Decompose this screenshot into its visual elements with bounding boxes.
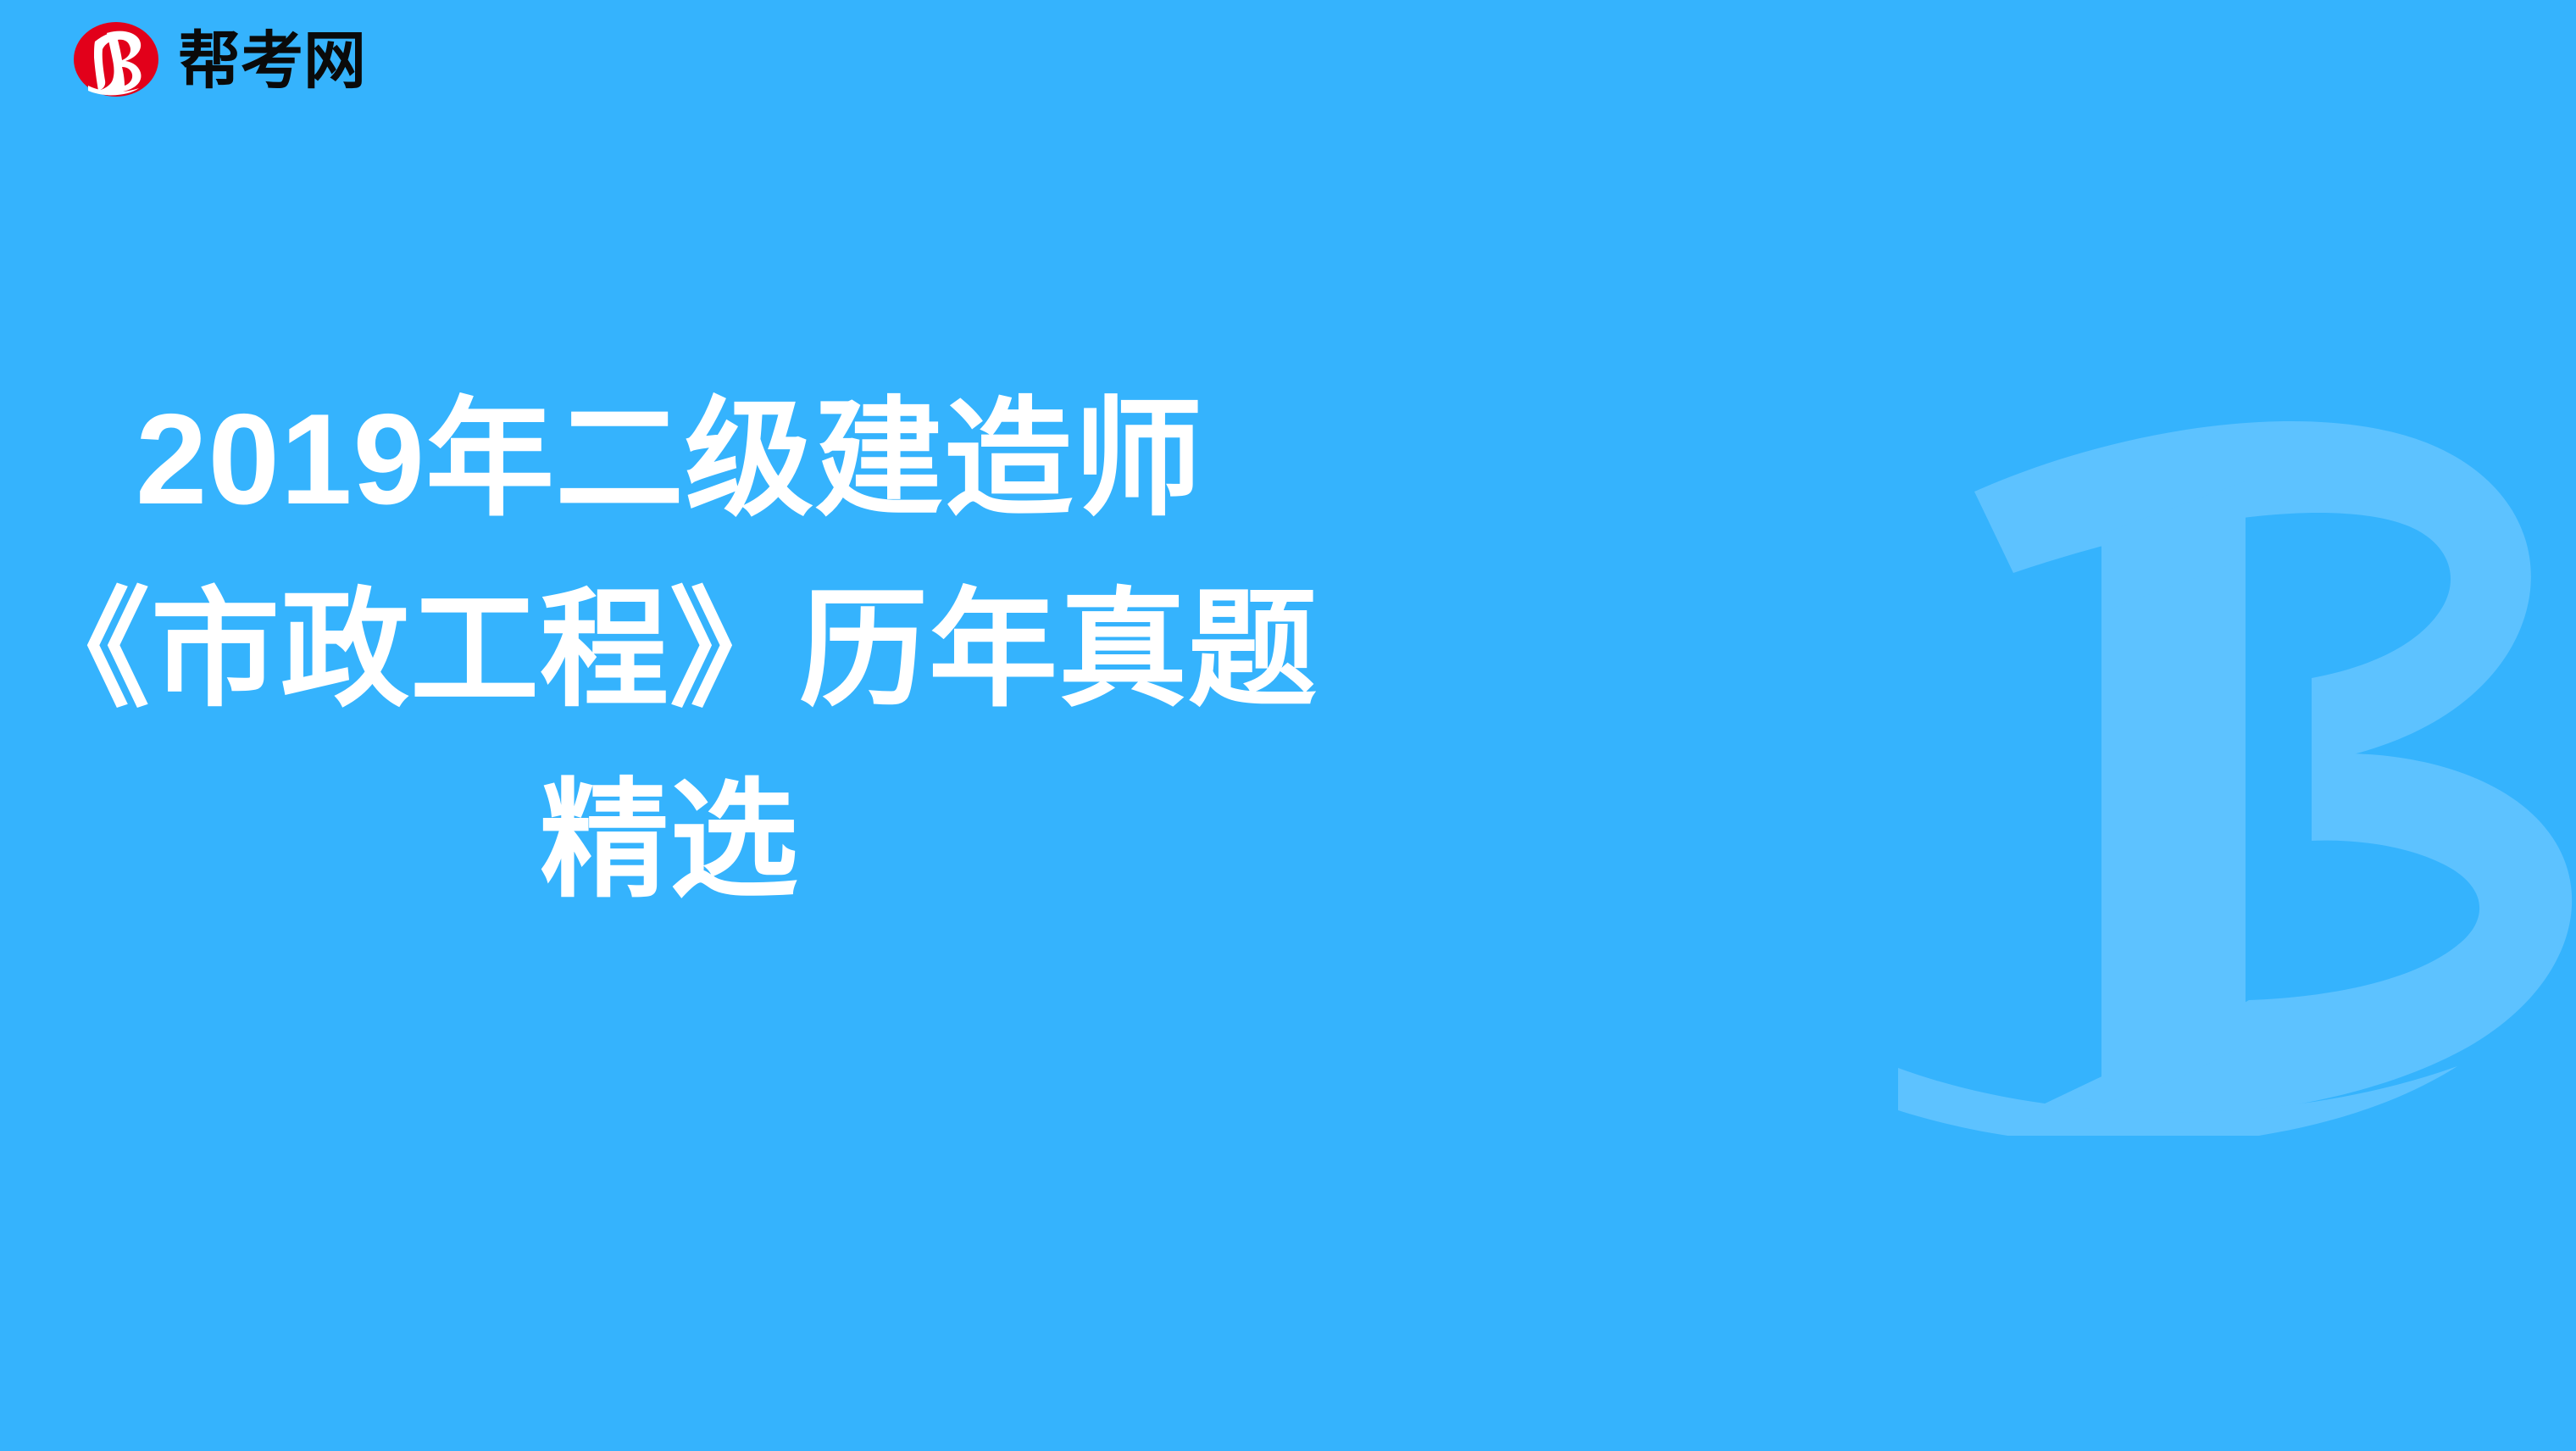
title-line-3: 精选 <box>0 746 1339 937</box>
title-line-1: 2019年二级建造师 <box>0 364 1339 555</box>
poster-canvas: 帮考网 2019年二级建造师 《市政工程》历年真题 精选 <box>0 0 2576 1451</box>
poster-title: 2019年二级建造师 《市政工程》历年真题 精选 <box>0 364 1339 937</box>
brand-watermark-b-icon <box>1847 280 2576 1136</box>
bangkao-b-mark-icon <box>66 21 166 97</box>
site-logo-text: 帮考网 <box>178 30 366 92</box>
title-line-2: 《市政工程》历年真题 <box>0 555 1339 746</box>
site-logo[interactable]: 帮考网 <box>66 19 366 100</box>
